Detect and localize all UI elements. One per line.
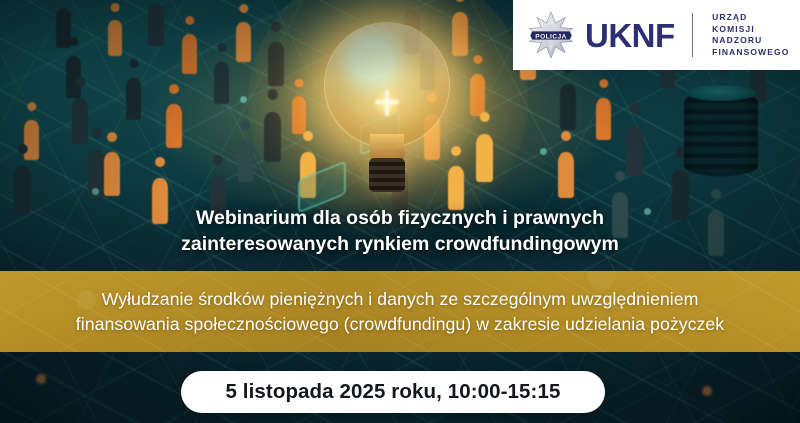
logo-card: POLICJA UKNF URZĄD KOMISJI NADZORU FINAN… xyxy=(513,0,800,70)
webinar-banner: POLICJA UKNF URZĄD KOMISJI NADZORU FINAN… xyxy=(0,0,800,423)
date-pill: 5 listopada 2025 roku, 10:00-15:15 xyxy=(181,371,605,413)
police-badge-icon: POLICJA xyxy=(527,11,575,59)
uknf-wordmark: UKNF xyxy=(585,19,675,52)
subject-band-text: Wyłudzanie środków pieniężnych i danych … xyxy=(0,271,800,352)
date-pill-text: 5 listopada 2025 roku, 10:00-15:15 xyxy=(226,380,561,404)
uknf-subtitle-line-2: KOMISJI xyxy=(712,25,789,34)
uknf-subtitle-line-3: NADZORU xyxy=(712,36,789,45)
headline-line-2: zainteresowanych rynkiem crowdfundingowy… xyxy=(24,232,776,258)
subject-band: Wyłudzanie środków pieniężnych i danych … xyxy=(0,271,800,352)
subject-band-line-1: Wyłudzanie środków pieniężnych i danych … xyxy=(102,287,699,312)
logo-divider xyxy=(692,13,694,57)
uknf-subtitle: URZĄD KOMISJI NADZORU FINANSOWEGO xyxy=(712,13,789,57)
headline: Webinarium dla osób fizycznych i prawnyc… xyxy=(0,206,800,258)
svg-text:POLICJA: POLICJA xyxy=(535,33,566,40)
subject-band-line-2: finansowania społecznościowego (crowdfun… xyxy=(76,312,724,337)
headline-line-1: Webinarium dla osób fizycznych i prawnyc… xyxy=(24,206,776,232)
uknf-subtitle-line-4: FINANSOWEGO xyxy=(712,48,789,57)
uknf-subtitle-line-1: URZĄD xyxy=(712,13,789,22)
